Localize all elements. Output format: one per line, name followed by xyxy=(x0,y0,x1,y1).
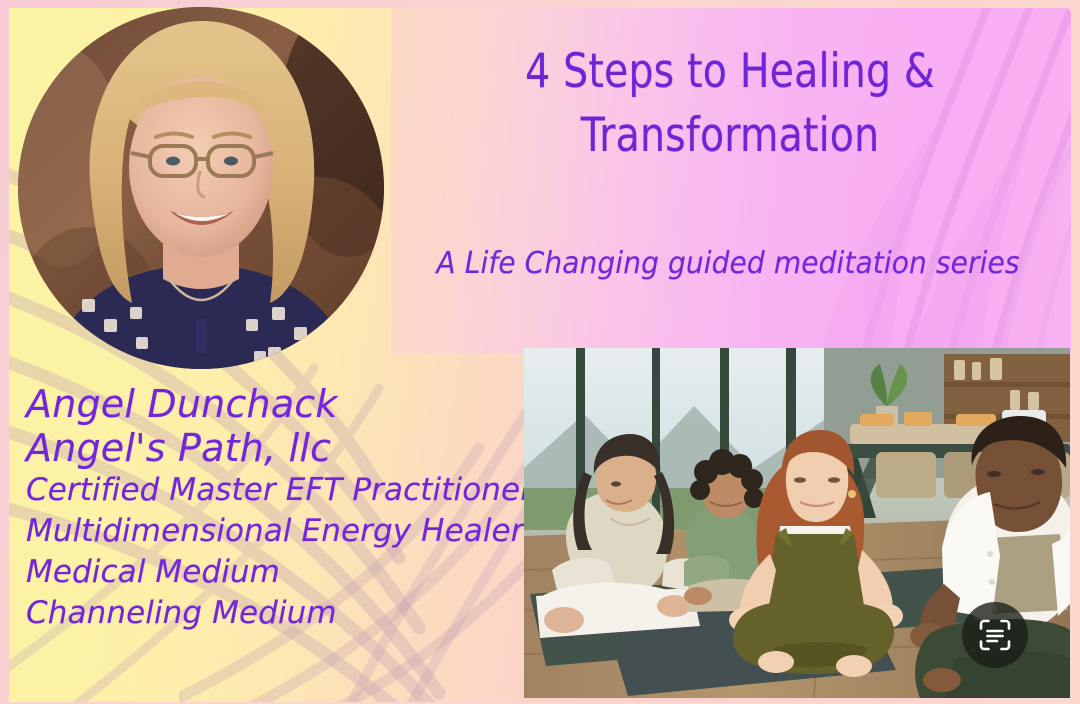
credential-item: Channeling Medium xyxy=(26,593,533,634)
scan-text-icon xyxy=(978,618,1012,652)
scan-text-button[interactable] xyxy=(962,602,1028,668)
title-line-1: 4 Steps to Healing & xyxy=(525,44,935,99)
title-line-2: Transformation xyxy=(581,108,880,163)
credential-item: Medical Medium xyxy=(26,552,533,593)
presenter-portrait xyxy=(18,7,384,369)
page-title: 4 Steps to Healing &Transformation xyxy=(444,40,1015,169)
presenter-credentials: Angel Dunchack Angel's Path, llc Certifi… xyxy=(26,382,533,634)
credential-item: Certified Master EFT Practitioner xyxy=(26,470,533,511)
page-subtitle: A Life Changing guided meditation series xyxy=(406,246,1050,281)
presenter-business: Angel's Path, llc xyxy=(26,426,533,470)
presenter-name: Angel Dunchack xyxy=(26,382,533,426)
credential-item: Multidimensional Energy Healer xyxy=(26,511,533,552)
flyer-canvas: 4 Steps to Healing &Transformation A Lif… xyxy=(0,0,1080,704)
